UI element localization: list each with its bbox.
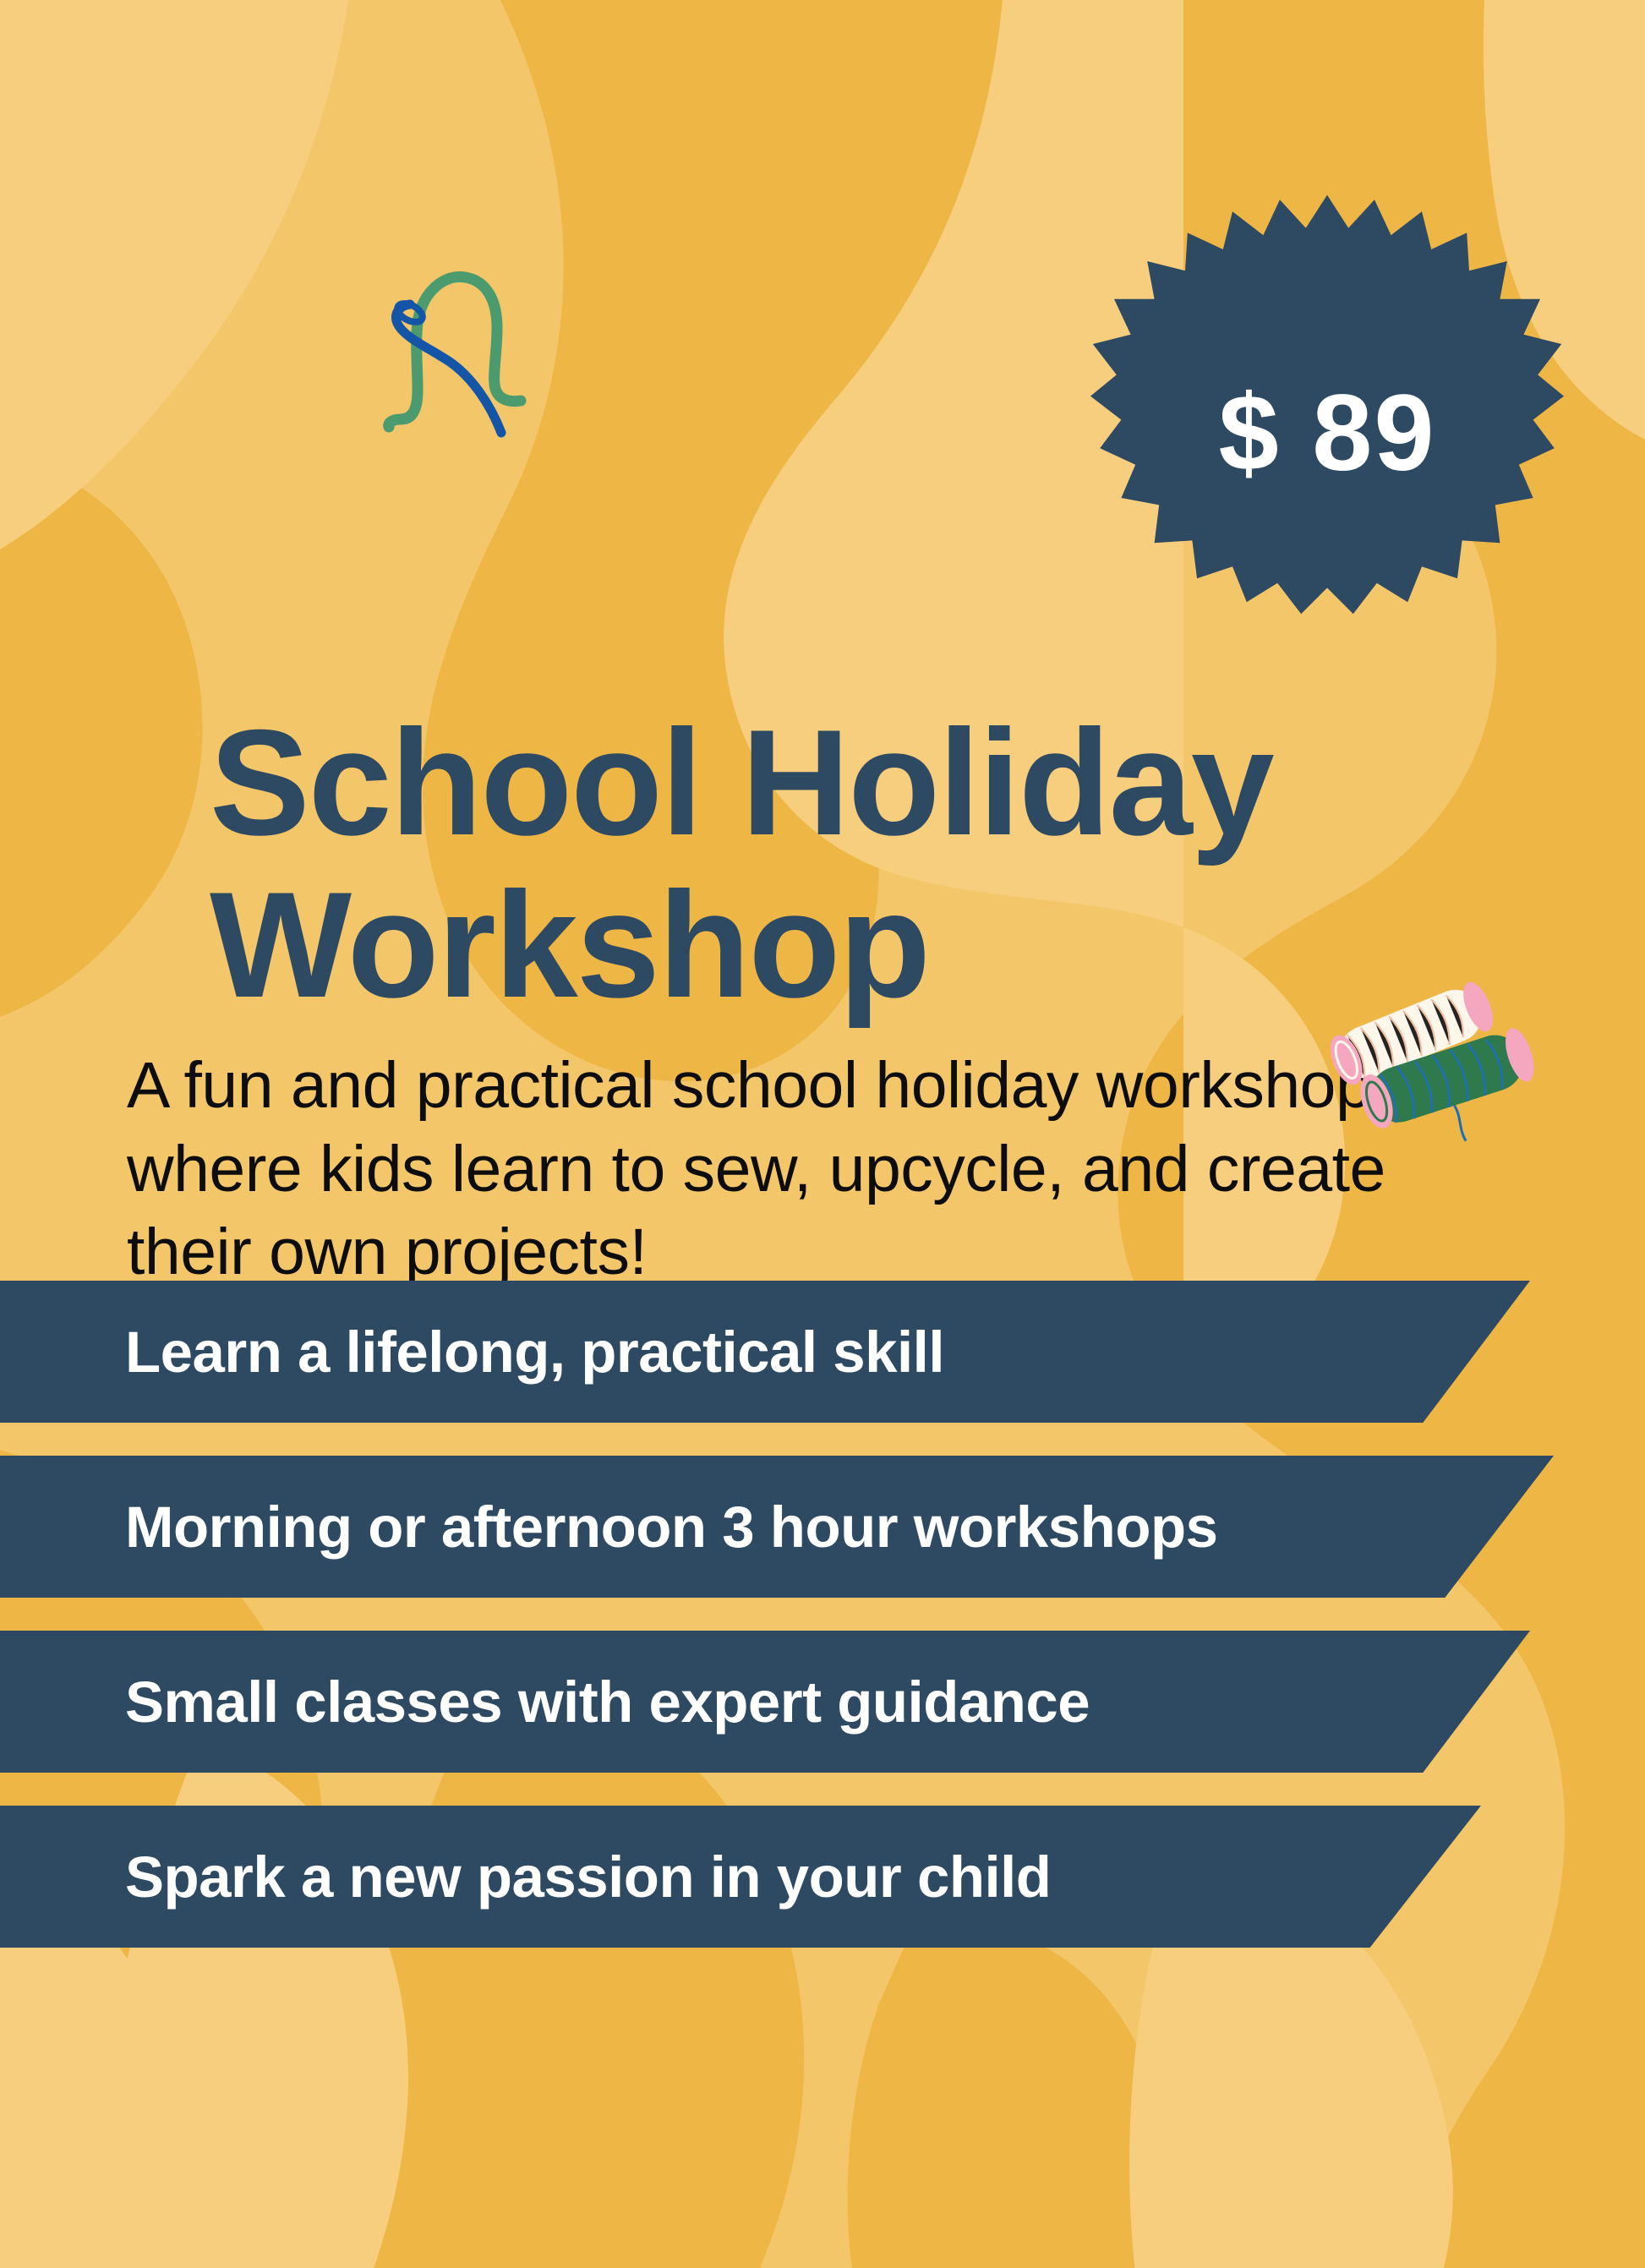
feature-banner-label: Morning or afternoon 3 hour workshops (0, 1494, 1218, 1560)
feature-banner-label: Spark a new passion in your child (0, 1844, 1051, 1910)
feature-banner-list: Learn a lifelong, practical skill Mornin… (0, 1281, 1645, 1981)
feature-banner: Spark a new passion in your child (0, 1806, 1481, 1948)
poster-canvas: $ 89 School Holiday Workshop A fun and p… (0, 0, 1645, 2268)
feature-banner-label: Small classes with expert guidance (0, 1669, 1090, 1735)
page-title-line-1: School Holiday (210, 708, 1435, 858)
needle-and-thread-icon (363, 254, 558, 448)
price-badge: $ 89 (1090, 190, 1564, 664)
subtitle-text: A fun and practical school holiday works… (127, 1044, 1496, 1294)
price-label: $ 89 (1090, 190, 1564, 664)
thread-spools-icon (1329, 972, 1566, 1158)
feature-banner: Learn a lifelong, practical skill (0, 1281, 1530, 1423)
feature-banner-label: Learn a lifelong, practical skill (0, 1319, 944, 1385)
page-title: School Holiday Workshop (210, 708, 1435, 1020)
page-title-line-2: Workshop (210, 870, 1435, 1020)
feature-banner: Morning or afternoon 3 hour workshops (0, 1456, 1554, 1598)
feature-banner: Small classes with expert guidance (0, 1631, 1530, 1773)
